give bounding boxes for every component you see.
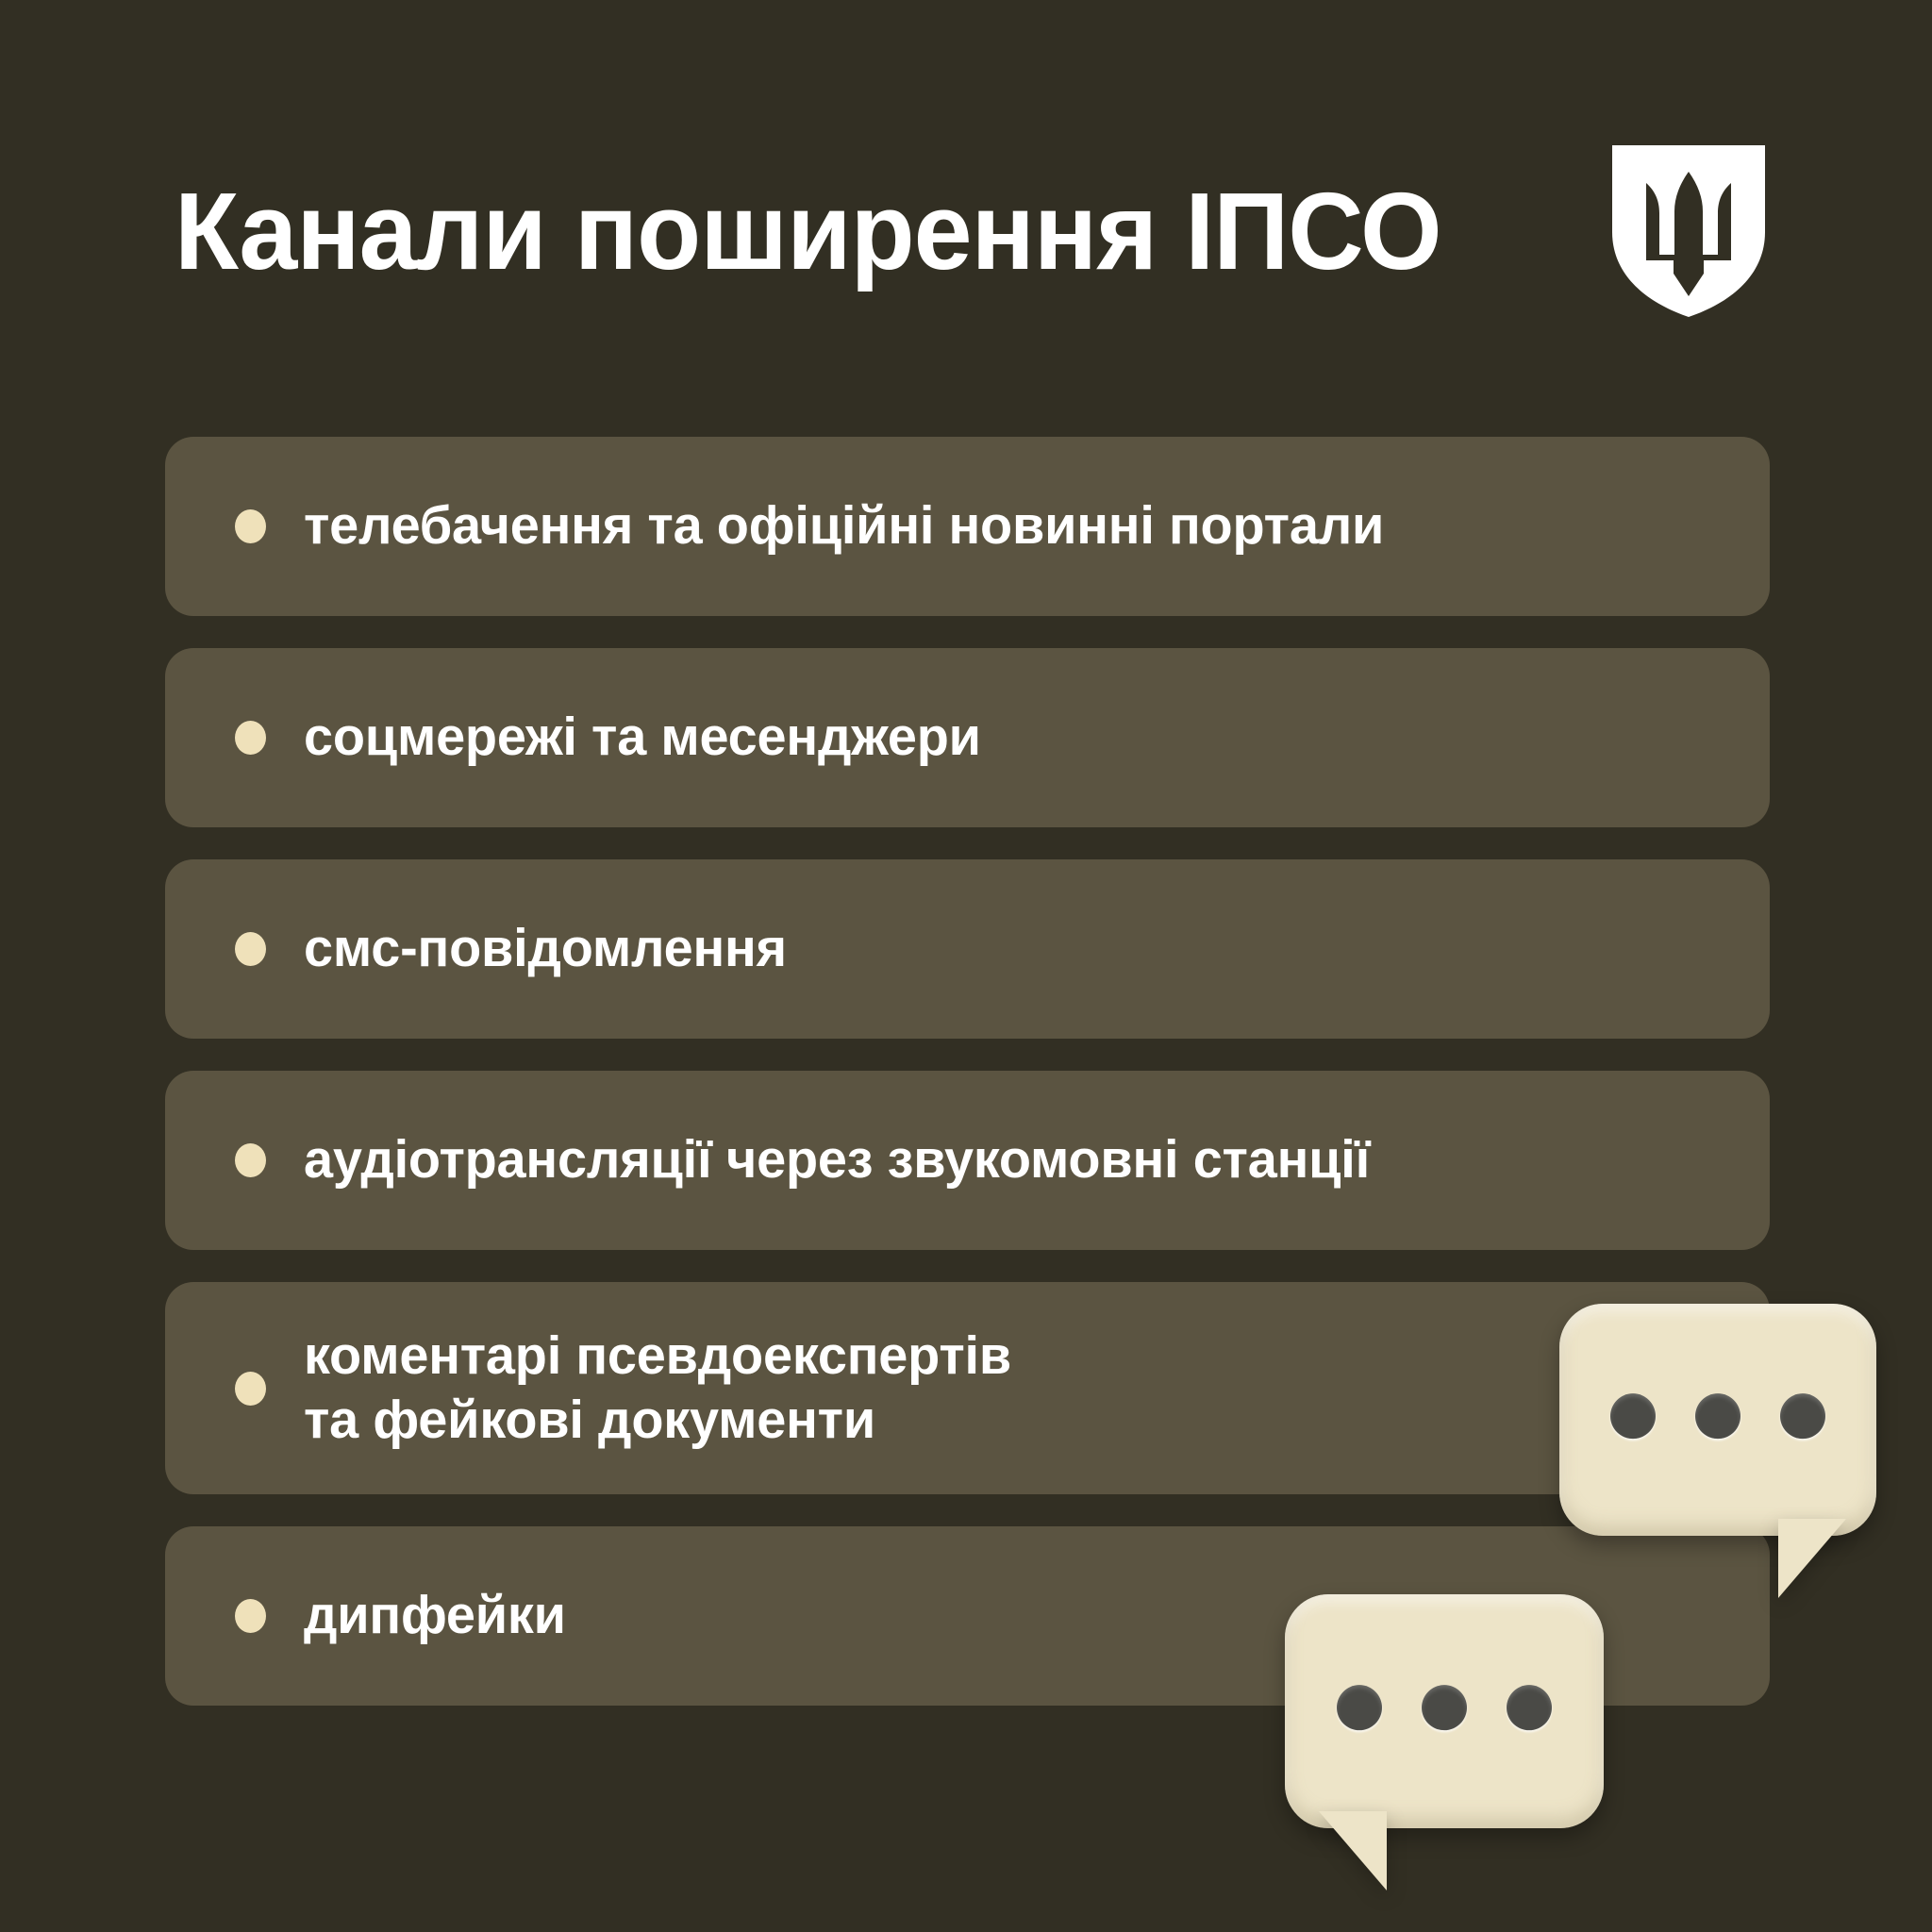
bullet-icon <box>235 509 266 543</box>
bullet-icon <box>235 1143 266 1177</box>
list-item-label: коментарі псевдоекспертів та фейкові док… <box>304 1324 1011 1452</box>
typing-dot <box>1780 1393 1825 1439</box>
list-item[interactable]: смс-повідомлення <box>165 859 1770 1039</box>
list-item-label: смс-повідомлення <box>304 917 787 980</box>
infographic-canvas: Канали поширення ІПСО телебачення та офі… <box>0 0 1932 1932</box>
bullet-icon <box>235 721 266 755</box>
typing-dot <box>1695 1393 1740 1439</box>
list-item[interactable]: соцмережі та месенджери <box>165 648 1770 827</box>
speech-bubble-tail <box>1319 1811 1387 1890</box>
header: Канали поширення ІПСО <box>175 142 1778 321</box>
typing-dots <box>1285 1685 1604 1730</box>
list-item[interactable]: телебачення та офіційні новинні портали <box>165 437 1770 616</box>
typing-dot <box>1507 1685 1552 1730</box>
list-item-label: соцмережі та месенджери <box>304 706 981 769</box>
list-item-label: телебачення та офіційні новинні портали <box>304 494 1384 558</box>
bullet-icon <box>235 932 266 966</box>
bullet-icon <box>235 1599 266 1633</box>
list-item-label: аудіотрансляції через звукомовні станції <box>304 1128 1370 1191</box>
typing-dot <box>1422 1685 1467 1730</box>
speech-bubble-typing-icon <box>1559 1304 1876 1536</box>
list-item[interactable]: аудіотрансляції через звукомовні станції <box>165 1071 1770 1250</box>
page-title: Канали поширення ІПСО <box>175 176 1441 286</box>
ukrainian-armed-forces-shield-trident-icon <box>1608 142 1769 321</box>
typing-dots <box>1559 1393 1876 1439</box>
bullet-icon <box>235 1372 266 1406</box>
speech-bubble-tail <box>1778 1519 1846 1598</box>
typing-dot <box>1610 1393 1656 1439</box>
speech-bubble-typing-icon <box>1285 1594 1604 1828</box>
typing-dot <box>1337 1685 1382 1730</box>
list-item-label: дипфейки <box>304 1584 566 1647</box>
list-item[interactable]: коментарі псевдоекспертів та фейкові док… <box>165 1282 1770 1494</box>
channel-list: телебачення та офіційні новинні портали … <box>165 437 1770 1738</box>
